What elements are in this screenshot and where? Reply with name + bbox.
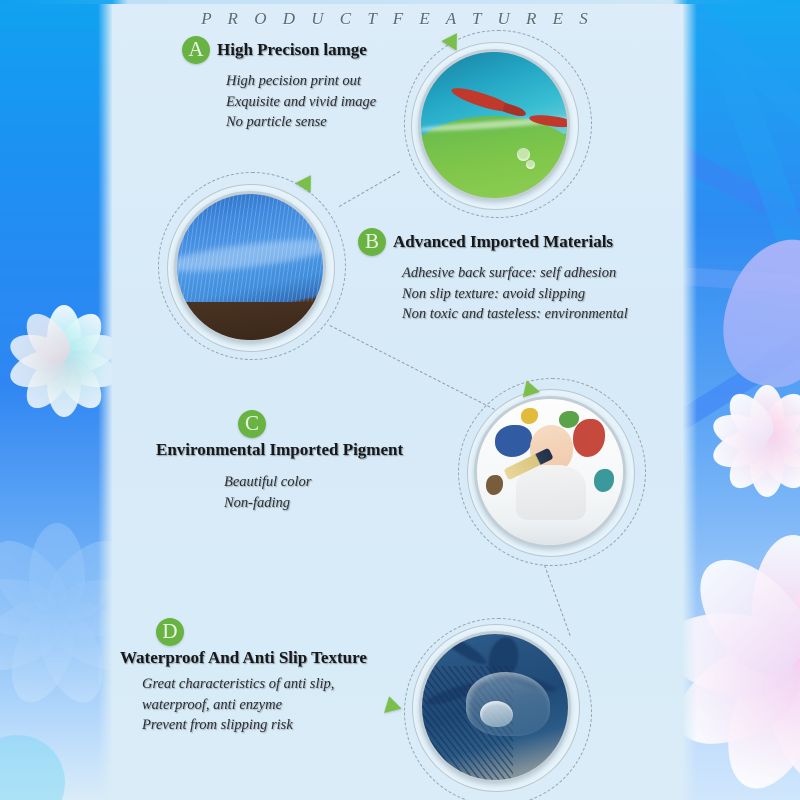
feature-b-line-3: Non toxic and tasteless: environmental xyxy=(402,304,628,325)
paint-splatter-red xyxy=(573,419,605,457)
feature-a-line-3: No particle sense xyxy=(226,112,376,133)
feature-c-photo-group xyxy=(458,378,648,568)
feature-a-heading: A High Precison lamge xyxy=(182,36,376,64)
feature-c-title: Environmental Imported Pigment xyxy=(156,440,403,460)
page-header: P R O D U C T F E A T U R E S xyxy=(110,4,685,34)
feature-b-lines: Adhesive back surface: self adhesion Non… xyxy=(402,263,628,325)
feature-d-photo-group xyxy=(404,618,594,800)
koi-pond-print-photo xyxy=(421,52,567,198)
infographic-canvas: P R O D U C T F E A T U R E S A High Pre… xyxy=(0,0,800,800)
feature-b-photo xyxy=(174,191,326,343)
feature-d-line-2: waterproof, anti enzyme xyxy=(142,695,367,716)
right-large-petal-upper xyxy=(707,225,800,402)
feature-a-line-1: High pecision print out xyxy=(226,71,376,92)
small-water-droplet xyxy=(480,701,512,727)
paint-splatter-dark xyxy=(486,475,504,495)
feature-block-a: A High Precison lamge High pecision prin… xyxy=(182,36,376,133)
feature-b-line-2: Non slip texture: avoid slipping xyxy=(402,284,628,305)
blue-fabric-backing-photo xyxy=(177,194,323,340)
feature-a-photo-group xyxy=(404,30,594,220)
left-decorative-border xyxy=(0,0,112,800)
right-edge-fade xyxy=(683,0,697,800)
right-small-flower-decoration xyxy=(711,385,800,497)
left-circle-accent xyxy=(0,735,65,800)
feature-c-badge: C xyxy=(238,410,266,438)
paint-splatter-yellow xyxy=(521,408,539,424)
paint-floor-region xyxy=(477,522,623,545)
feature-a-title: High Precison lamge xyxy=(217,40,367,60)
feature-c-line-2: Non-fading xyxy=(224,493,403,514)
feature-d-photo xyxy=(419,631,571,783)
feature-c-photo xyxy=(474,396,626,548)
dark-surface-region xyxy=(177,302,323,340)
feature-b-line-1: Adhesive back surface: self adhesion xyxy=(402,263,628,284)
feature-a-lines: High pecision print out Exquisite and vi… xyxy=(226,71,376,133)
feature-d-heading: D Waterproof And Anti Slip Texture xyxy=(120,618,367,668)
feature-b-photo-group xyxy=(158,172,348,362)
feature-a-badge: A xyxy=(182,36,210,64)
left-flower-decoration xyxy=(8,305,112,417)
feature-d-line-3: Prevent from slipping risk xyxy=(142,715,367,736)
page-title: P R O D U C T F E A T U R E S xyxy=(201,9,594,29)
waterproof-droplet-photo xyxy=(422,634,568,780)
feature-a-line-2: Exquisite and vivid image xyxy=(226,92,376,113)
feature-block-c: C Environmental Imported Pigment Beautif… xyxy=(156,410,403,513)
baby-painting-photo xyxy=(477,399,623,545)
feature-a-photo xyxy=(418,49,570,201)
feature-block-b: B Advanced Imported Materials Adhesive b… xyxy=(358,228,628,325)
water-drop-2 xyxy=(526,160,535,169)
feature-b-heading: B Advanced Imported Materials xyxy=(358,228,628,256)
feature-b-title: Advanced Imported Materials xyxy=(393,232,613,252)
left-ghost-flower-decoration xyxy=(0,520,112,710)
feature-c-heading: C Environmental Imported Pigment xyxy=(156,410,403,460)
feature-d-lines: Great characteristics of anti slip, wate… xyxy=(142,674,367,736)
surface-vein-1 xyxy=(437,631,488,667)
paint-splatter-blue xyxy=(495,425,533,457)
feature-d-line-1: Great characteristics of anti slip, xyxy=(142,674,367,695)
feature-c-lines: Beautiful color Non-fading xyxy=(224,472,403,513)
left-edge-fade xyxy=(98,0,112,800)
feature-block-d: D Waterproof And Anti Slip Texture Great… xyxy=(120,618,367,736)
feature-b-badge: B xyxy=(358,228,386,256)
right-large-flower-decoration xyxy=(683,545,800,785)
feature-d-title: Waterproof And Anti Slip Texture xyxy=(120,648,367,668)
top-accent-line xyxy=(0,0,800,4)
feature-d-badge: D xyxy=(156,618,184,646)
paint-splatter-teal xyxy=(594,469,614,492)
feature-c-line-1: Beautiful color xyxy=(224,472,403,493)
right-decorative-border xyxy=(683,0,800,800)
baby-body xyxy=(516,465,586,520)
